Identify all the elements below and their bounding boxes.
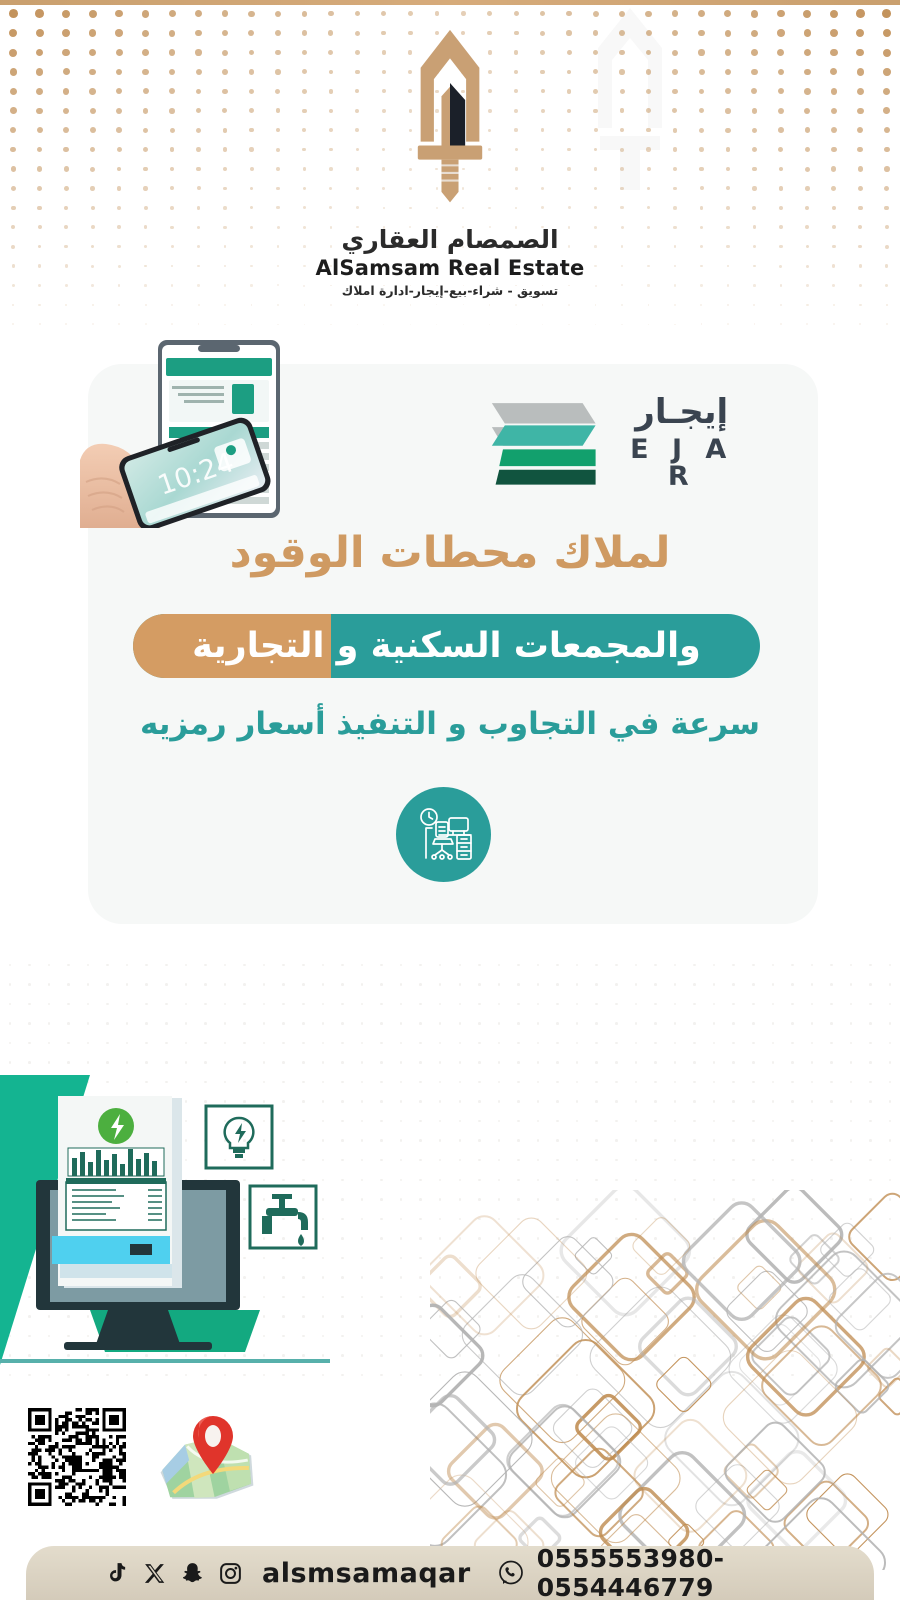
headline-line-3: سرعة في التجاوب و التنفيذ أسعار رمزيه xyxy=(0,706,900,742)
office-desk-clock-badge xyxy=(396,787,491,882)
geometric-squares-decoration xyxy=(430,1190,900,1570)
office-desk-clock-icon xyxy=(415,806,473,864)
brand-name-english: AlSamsam Real Estate xyxy=(0,256,900,280)
ejar-logo: إيجـار E J A R xyxy=(490,392,750,492)
snapchat-icon[interactable] xyxy=(180,1561,205,1586)
instagram-icon[interactable] xyxy=(218,1561,243,1586)
x-twitter-icon[interactable] xyxy=(142,1561,167,1586)
headline-banner: والمجمعات السكنية و التجارية xyxy=(133,614,760,678)
map-location-pin-icon[interactable] xyxy=(147,1400,265,1512)
hand-holding-phone-photo-icon: 10:24 xyxy=(72,332,294,528)
ejar-chevron-bands-icon xyxy=(490,394,597,490)
teal-divider-line xyxy=(0,1359,330,1363)
brand-name-arabic: الصمصام العقاري xyxy=(0,226,900,254)
phone-numbers: 0555553980-0554446779 xyxy=(537,1544,874,1600)
qr-code-icon[interactable] xyxy=(28,1408,126,1506)
social-handle: alsmsamaqar xyxy=(262,1558,471,1589)
utility-bill-monitor-illustration-icon xyxy=(10,1040,360,1370)
top-accent-rule xyxy=(0,0,900,5)
sword-building-logo-icon xyxy=(390,28,510,208)
brand-logo-block: الصمصام العقاري AlSamsam Real Estate تسو… xyxy=(0,28,900,298)
tiktok-icon[interactable] xyxy=(104,1561,129,1586)
poster-canvas: الصمصام العقاري AlSamsam Real Estate تسو… xyxy=(0,0,900,1600)
headline-line-1: لملاك محطات الوقود xyxy=(0,528,900,578)
brand-tagline: تسويق - شراء-بيع-إيجار-ادارة املاك xyxy=(0,283,900,298)
ejar-name-arabic: إيجـار xyxy=(613,395,750,429)
phone-icon xyxy=(498,1560,524,1586)
headline-line-2: والمجمعات السكنية و التجارية xyxy=(133,614,760,678)
contact-footer-bar: alsmsamaqar 0555553980-0554446779 xyxy=(26,1546,874,1600)
ejar-name-english: E J A R xyxy=(613,436,750,490)
